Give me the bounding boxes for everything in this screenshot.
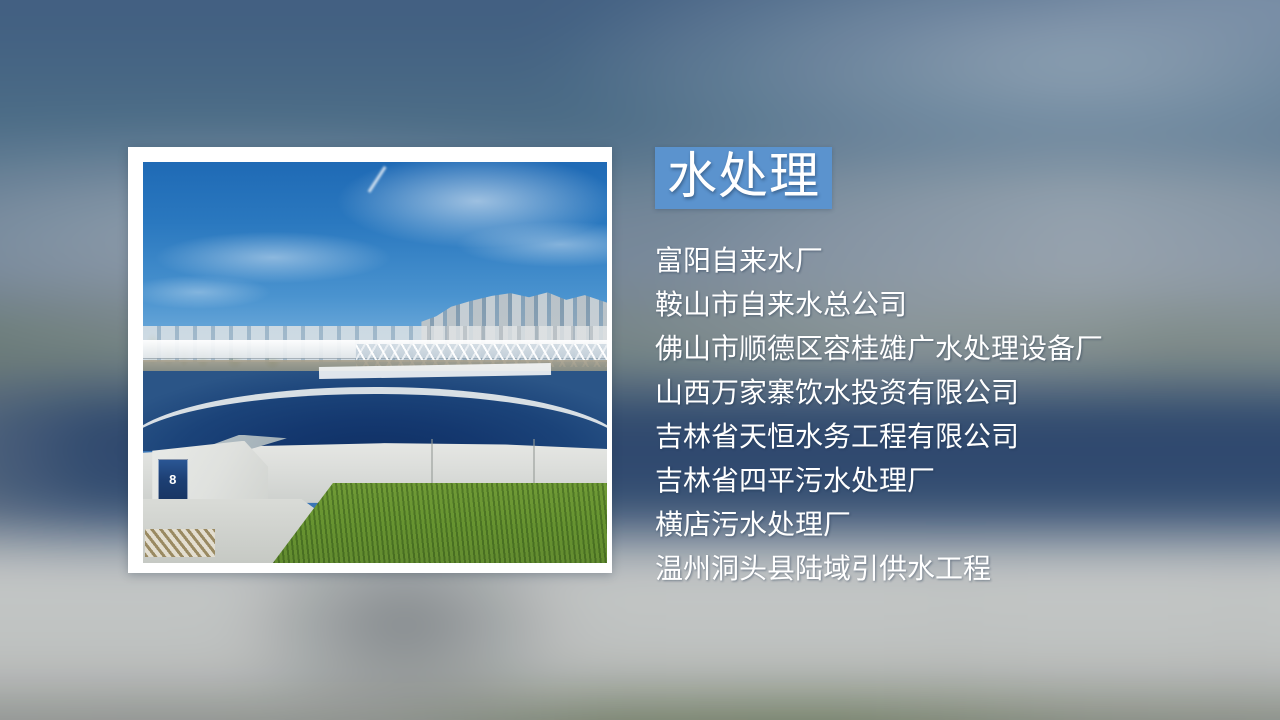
background-ground [0, 696, 1280, 720]
list-item: 吉林省四平污水处理厂 [655, 459, 1215, 503]
list-item: 山西万家寨饮水投资有限公司 [655, 371, 1215, 415]
content-column: 水处理 富阳自来水厂 鞍山市自来水总公司 佛山市顺德区容桂雄广水处理设备厂 山西… [655, 147, 1215, 591]
photo-paver-grate [145, 529, 215, 557]
list-item: 佛山市顺德区容桂雄广水处理设备厂 [655, 327, 1215, 371]
list-item: 吉林省天恒水务工程有限公司 [655, 415, 1215, 459]
page-title: 水处理 [667, 151, 820, 201]
water-treatment-plant-photo: 8 [143, 162, 607, 563]
photo-unit-number-text: 8 [159, 473, 187, 486]
list-item: 富阳自来水厂 [655, 239, 1215, 283]
title-banner: 水处理 [655, 147, 832, 209]
photo-frame: 8 [128, 147, 612, 573]
list-item: 温州洞头县陆域引供水工程 [655, 547, 1215, 591]
list-item: 鞍山市自来水总公司 [655, 283, 1215, 327]
list-item: 横店污水处理厂 [655, 503, 1215, 547]
client-list: 富阳自来水厂 鞍山市自来水总公司 佛山市顺德区容桂雄广水处理设备厂 山西万家寨饮… [655, 239, 1215, 591]
photo-contrail [368, 166, 387, 193]
background-wall-seam [1238, 537, 1240, 714]
slide-canvas: 8 水处理 富阳自来水厂 鞍山市自来水总公司 佛山市顺德区容桂雄广水处理设备厂 … [0, 0, 1280, 720]
